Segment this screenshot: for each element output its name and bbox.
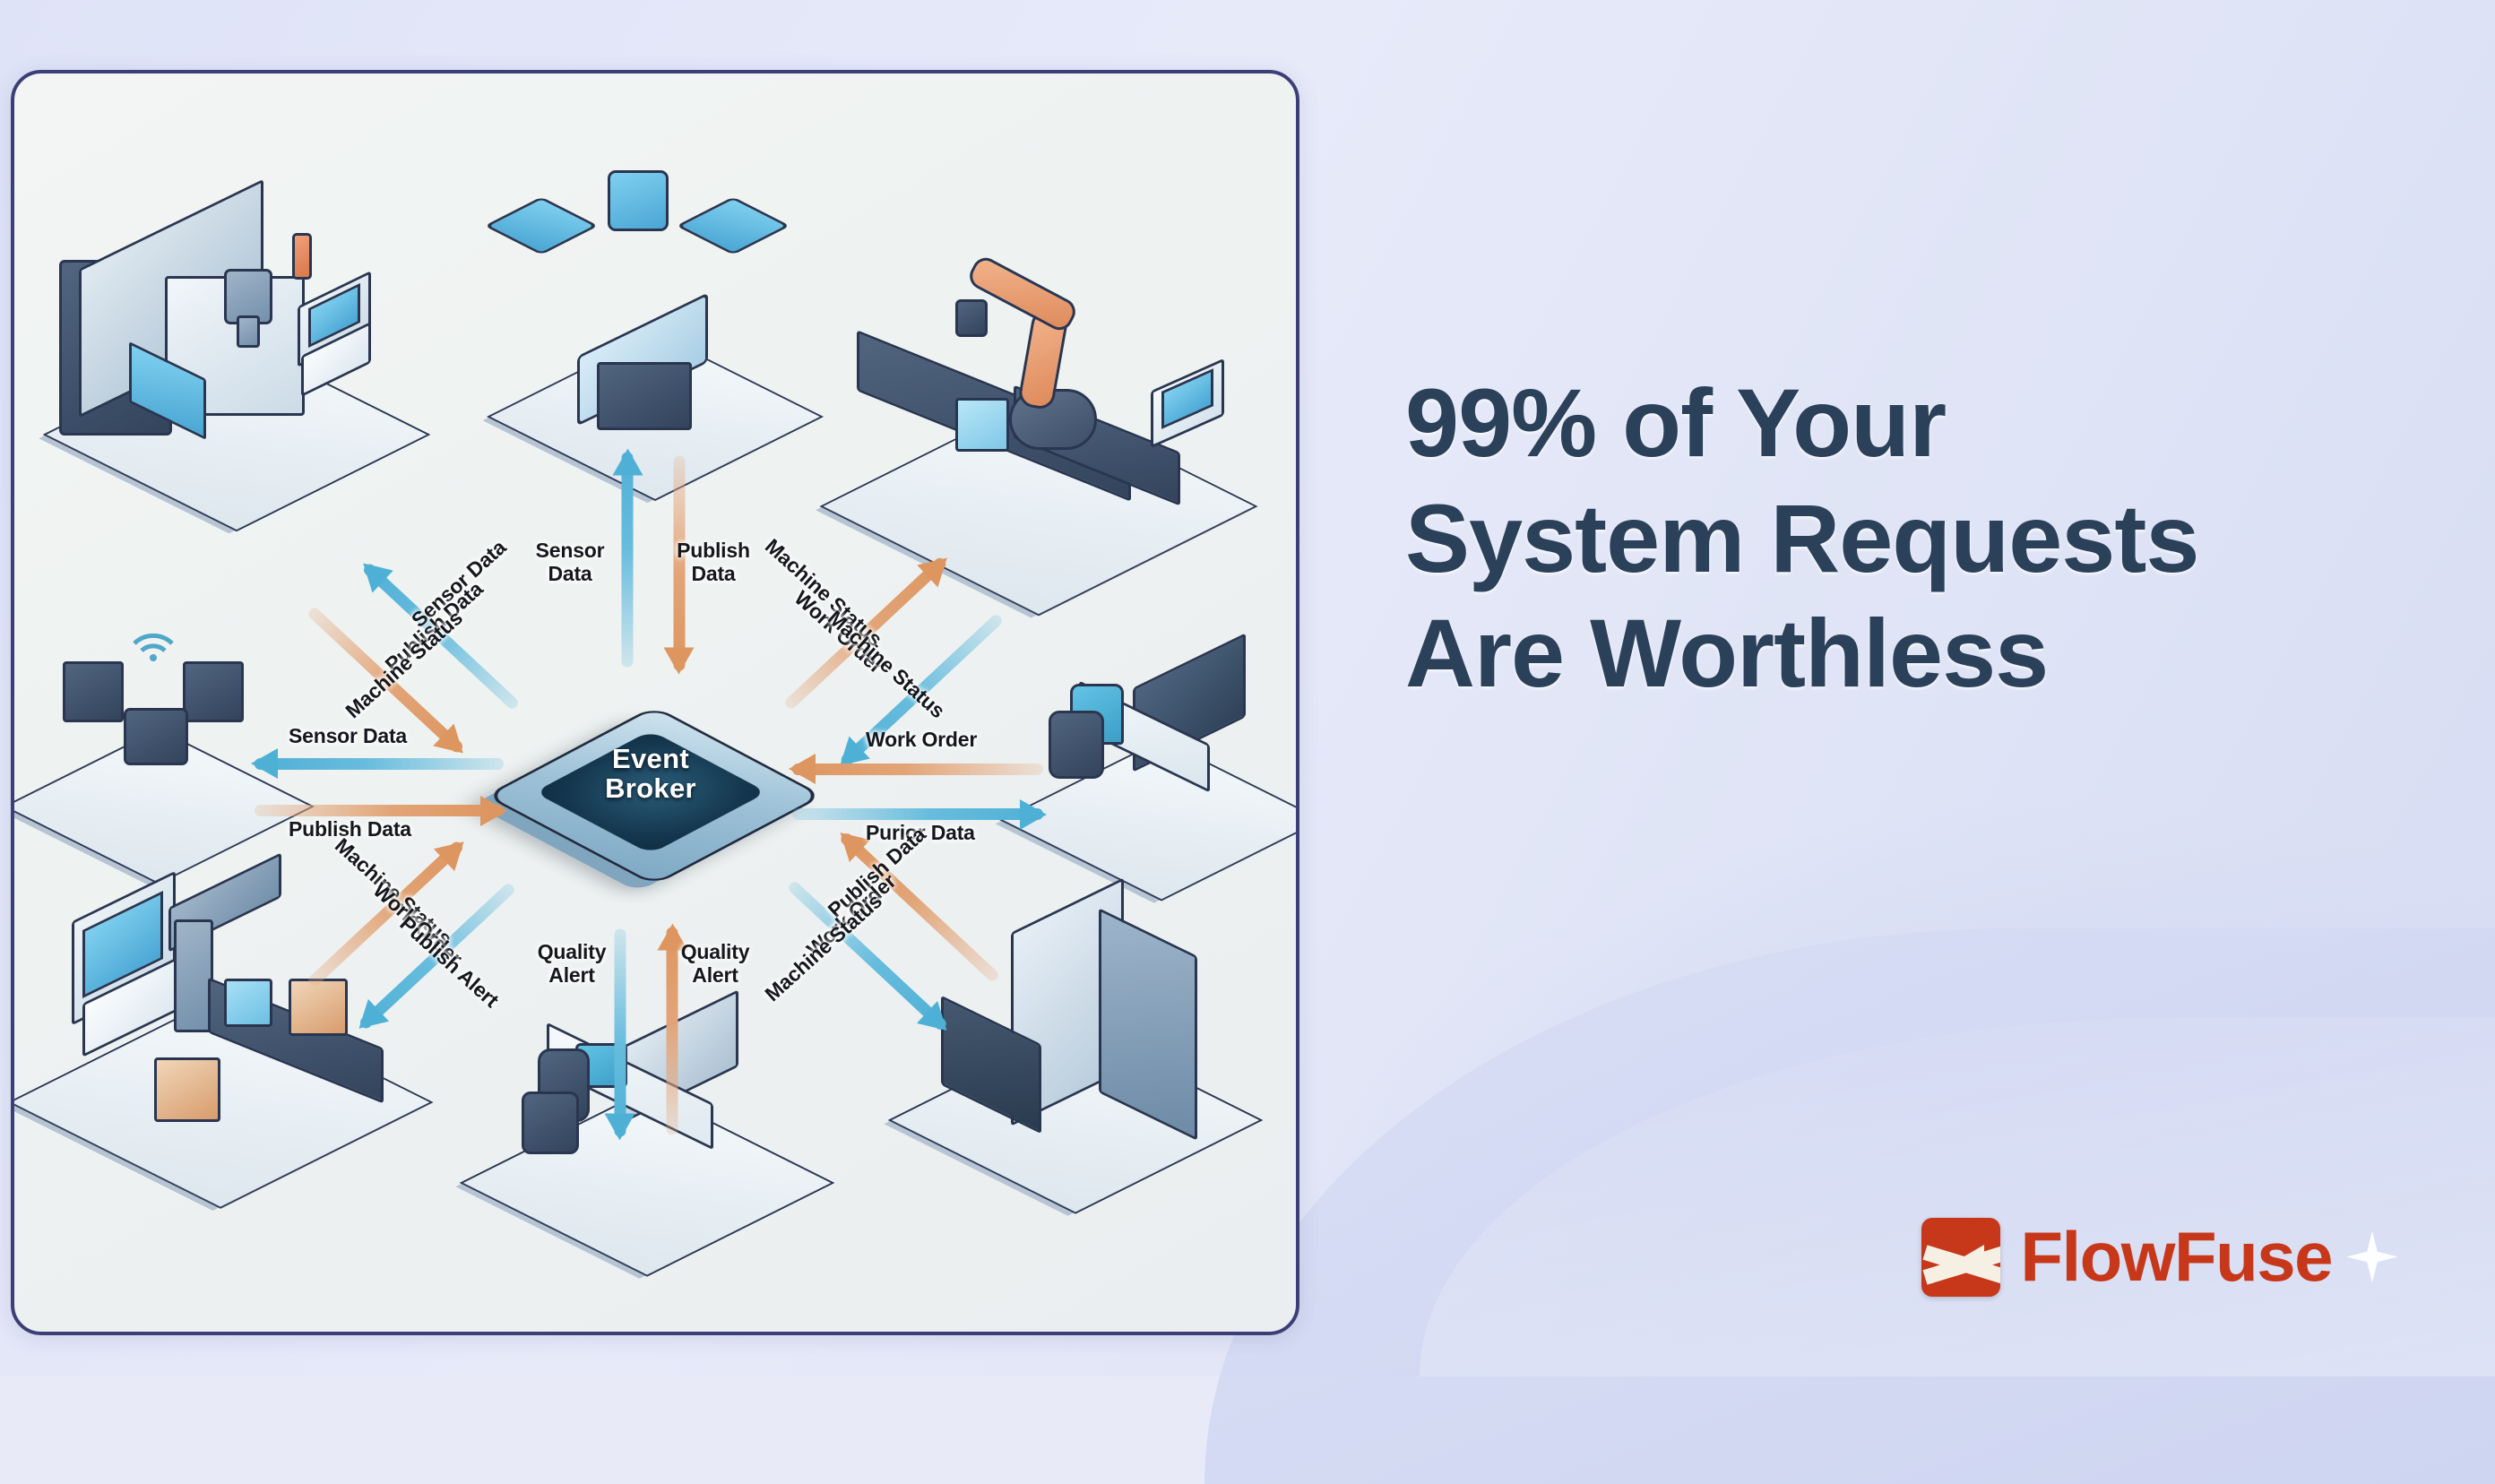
brand-logo: FlowFuse	[1921, 1216, 2398, 1298]
isometric-diagram: Event Broker	[14, 73, 1296, 1332]
node-server-rack	[911, 880, 1242, 1185]
headline-line-1: 99% of Your	[1405, 366, 2463, 481]
node-iot-gateway	[462, 163, 821, 459]
wifi-icon	[608, 170, 669, 231]
sparkle-icon	[2346, 1231, 2398, 1283]
event-broker-label-line2: Broker	[516, 773, 785, 803]
node-robot-arm	[821, 235, 1251, 575]
flow-arrow-left-in	[255, 758, 504, 770]
label-top-center-2: Publish Data	[660, 539, 767, 586]
flow-arrow-right-in	[792, 808, 1043, 820]
label-bottom-center-2: Quality Alert	[661, 941, 769, 988]
label-right-1: Work Order	[866, 728, 977, 752]
event-broker-node: Event Broker	[516, 658, 785, 927]
label-left-1: Sensor Data	[289, 724, 407, 748]
node-engineer-desk	[471, 988, 812, 1256]
node-packaging-station	[32, 844, 409, 1176]
node-sensor-cluster	[22, 611, 290, 880]
headline-line-2: System Requests	[1405, 481, 2463, 597]
label-top-center-1: Sensor Data	[516, 539, 624, 586]
label-top-right-3: Machine Status	[823, 606, 949, 723]
gear-icon	[484, 197, 598, 255]
diagram-card: Event Broker	[11, 70, 1299, 1335]
headline-line-3: Are Worthless	[1405, 596, 2463, 712]
banner-stage: Event Broker	[0, 0, 2495, 1376]
background-swoosh-highlight	[1420, 1018, 2495, 1376]
brand-name: FlowFuse	[2020, 1216, 2332, 1298]
flow-arrow-right-out	[792, 764, 1043, 775]
headline: 99% of Your System Requests Are Worthles…	[1405, 366, 2463, 712]
label-bottom-center-1: Quality Alert	[518, 941, 626, 988]
flow-arrow-left-out	[255, 805, 504, 816]
wifi-icon	[131, 631, 176, 661]
node-cnc-machine	[32, 190, 418, 486]
network-icon	[676, 197, 790, 255]
event-broker-label-line1: Event	[516, 744, 785, 773]
flowfuse-logo-icon	[1921, 1218, 2000, 1297]
node-operator-terminal	[1018, 634, 1299, 893]
background-swoosh	[1204, 928, 2495, 1484]
